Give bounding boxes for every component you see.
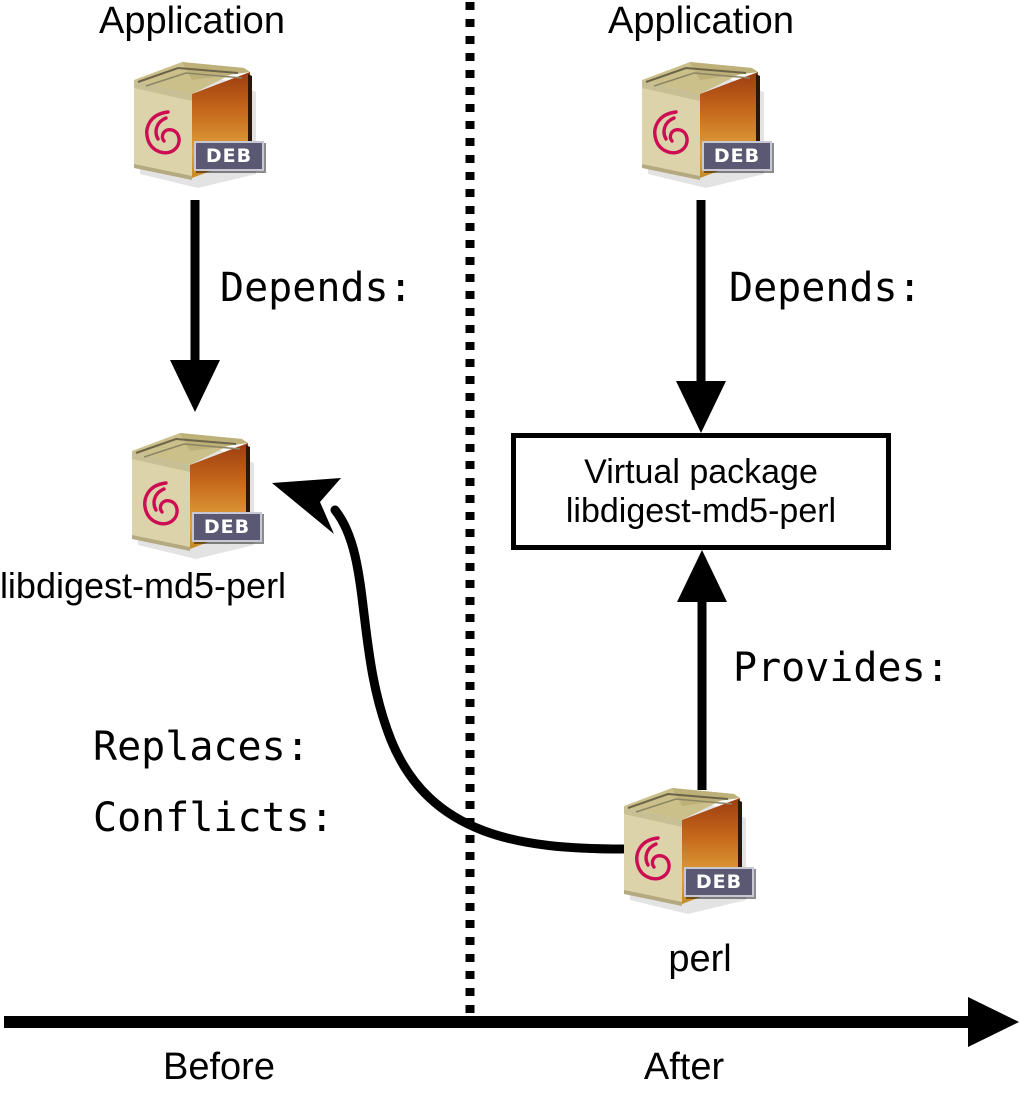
deb-badge-label: DEB — [204, 518, 250, 537]
arrow-down-icon-depends-after — [676, 200, 726, 433]
deb-badge-icon: DEB — [192, 512, 262, 542]
virtual-package-line-1: Virtual package — [584, 453, 818, 491]
package-label-libdigest-md5-perl: libdigest-md5-perl — [0, 567, 286, 605]
edge-label-replaces: Replaces: — [93, 726, 310, 768]
virtual-package-line-2: libdigest-md5-perl — [566, 492, 836, 530]
debian-package-icon-application-after: DEB — [628, 56, 778, 191]
deb-badge-label: DEB — [714, 147, 760, 166]
heading-application-after: Application — [608, 2, 794, 42]
deb-badge-label: DEB — [696, 873, 742, 892]
deb-badge-icon: DEB — [702, 141, 772, 171]
debian-package-icon-perl: DEB — [610, 782, 760, 917]
deb-badge-icon: DEB — [684, 867, 754, 897]
axis-label-before: Before — [163, 1048, 275, 1088]
debian-package-icon-application-before: DEB — [120, 56, 270, 191]
edge-label-depends-before: Depends: — [220, 267, 413, 309]
edge-label-provides: Provides: — [733, 647, 950, 689]
arrow-down-icon-depends-before — [170, 200, 220, 412]
deb-badge-icon: DEB — [194, 141, 264, 171]
edge-label-depends-after: Depends: — [729, 267, 922, 309]
heading-application-before: Application — [99, 2, 285, 42]
timeline-arrow-icon — [4, 997, 1019, 1047]
virtual-package-diagram: Application Application Depends: Depends… — [0, 0, 1024, 1094]
virtual-package-box: Virtual package libdigest-md5-perl — [511, 433, 891, 550]
debian-package-icon-libdigest-md5-perl: DEB — [118, 427, 268, 562]
arrow-up-icon-provides — [677, 550, 727, 790]
deb-badge-label: DEB — [206, 147, 252, 166]
edge-label-conflicts: Conflicts: — [93, 797, 334, 839]
axis-label-after: After — [644, 1048, 724, 1088]
package-label-perl: perl — [668, 940, 731, 980]
